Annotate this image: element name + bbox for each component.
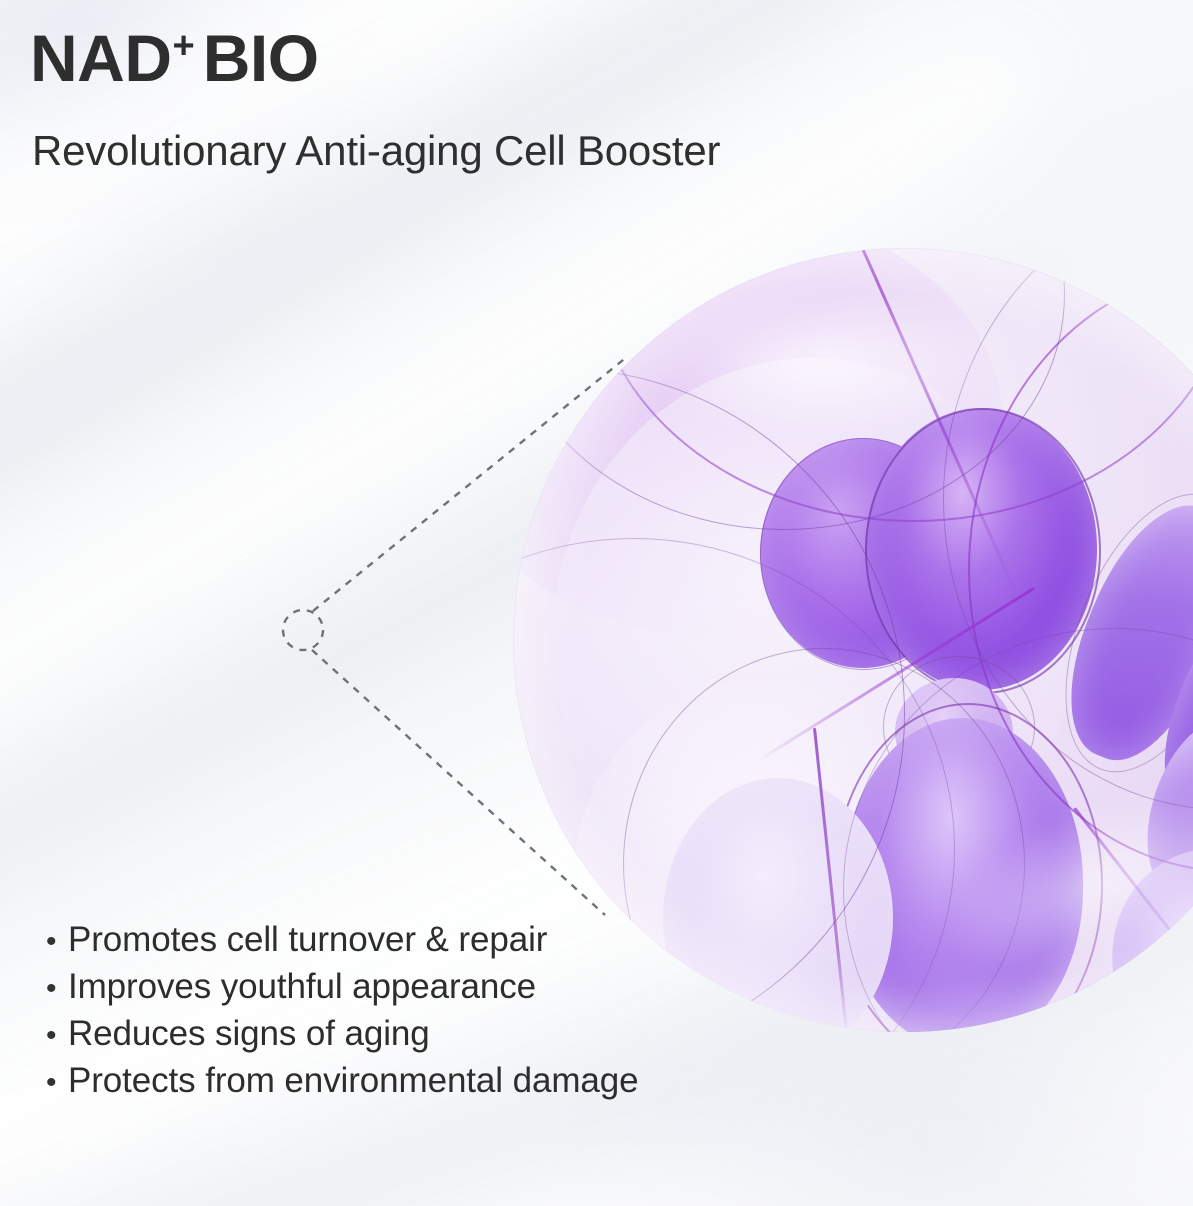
bullet-dot-icon: • (46, 1068, 68, 1098)
list-item: • Improves youthful appearance (46, 967, 746, 1014)
petal-blob-lower-right (1128, 708, 1193, 909)
page-subtitle: Revolutionary Anti-aging Cell Booster (32, 127, 720, 175)
nucleus-outline-small-under (883, 656, 1035, 798)
benefits-list: • Promotes cell turnover & repair • Impr… (46, 920, 746, 1108)
nucleus-outline-right (865, 408, 1101, 694)
nucleus-outline-bottom-center (833, 703, 1103, 1032)
nucleus-blob-small-under (895, 678, 1013, 786)
list-item: • Reduces signs of aging (46, 1014, 746, 1061)
list-item: • Promotes cell turnover & repair (46, 920, 746, 967)
membrane-arc-right-bright (968, 268, 1193, 872)
product-infographic: NAD+BIO Revolutionary Anti-aging Cell Bo… (0, 0, 1193, 1206)
nucleus-blob-left (760, 438, 965, 668)
specular-highlight-top (633, 288, 1013, 438)
cell-cluster-sphere (513, 248, 1193, 1032)
title-main: NAD (30, 21, 172, 95)
sphere-clip-mask (513, 248, 1193, 1032)
petal-blob-upper-right (1042, 484, 1193, 780)
benefit-text: Reduces signs of aging (68, 1014, 430, 1054)
title-superscript-plus: + (173, 25, 195, 67)
bullet-dot-icon: • (46, 927, 68, 957)
list-item: • Protects from environmental damage (46, 1061, 746, 1108)
bullet-dot-icon: • (46, 974, 68, 1004)
page-title: NAD+BIO (30, 25, 319, 91)
petal-outline-upper-right (1029, 468, 1193, 798)
filament-streak-1 (843, 248, 1021, 601)
title-suffix: BIO (203, 21, 319, 95)
nucleus-outline-left (760, 438, 967, 670)
benefit-text: Promotes cell turnover & repair (68, 920, 547, 960)
benefit-text: Protects from environmental damage (68, 1061, 638, 1101)
nucleus-blob-right (865, 408, 1097, 690)
membrane-arc-bottomright (843, 628, 1193, 1032)
petal-blob-mid-right (1124, 523, 1193, 858)
nucleus-blob-bottom-center (843, 718, 1083, 1032)
filament-streak-2 (754, 587, 1035, 764)
benefit-text: Improves youthful appearance (68, 967, 536, 1007)
filament-streak-3 (813, 728, 849, 1032)
membrane-blob-center (553, 358, 1073, 918)
bullet-dot-icon: • (46, 1021, 68, 1051)
